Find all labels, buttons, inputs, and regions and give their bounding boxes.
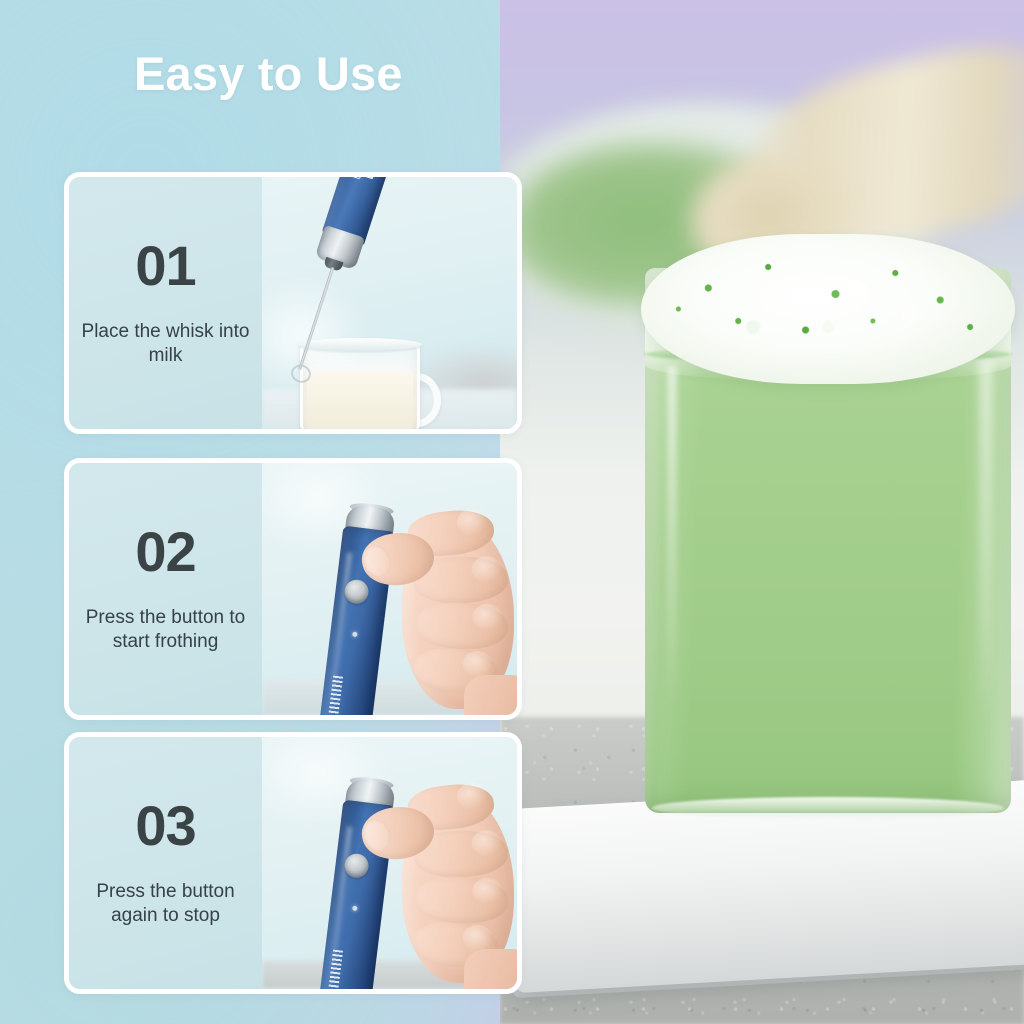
matcha-flecks <box>641 234 1014 384</box>
hand-holding-frother-02 <box>368 503 517 715</box>
milk-glass <box>300 343 420 429</box>
step-card-01-photo <box>262 177 517 429</box>
brand-logo-mark <box>351 177 364 179</box>
step-number-01: 01 <box>135 238 195 294</box>
mug-highlight-right <box>979 344 993 726</box>
page-title: Easy to Use <box>134 46 403 101</box>
finger-ring-02 <box>415 601 509 650</box>
brand-text-03 <box>328 950 344 989</box>
step-card-02[interactable]: 02 Press the button to start frothing <box>64 458 522 720</box>
step-card-03[interactable]: 03 Press the button again to stop <box>64 732 522 994</box>
mug-base-shine <box>652 797 1003 819</box>
milk-glass-rim <box>298 338 422 351</box>
knuckle-02a <box>456 507 489 536</box>
knuckle-02b <box>471 556 502 583</box>
step-card-01-text-panel: 01 Place the whisk into milk <box>69 177 262 429</box>
knuckle-03a <box>456 781 489 810</box>
knuckle-03c <box>472 877 503 904</box>
brand-logo-wordmark <box>363 177 373 179</box>
led-indicator-02 <box>352 632 358 638</box>
knuckle-02c <box>472 603 503 630</box>
step-number-02: 02 <box>135 524 195 580</box>
product-infographic: Easy to Use 01 Place the whisk into milk <box>0 0 1024 1024</box>
milk-liquid <box>307 371 413 429</box>
wrist-03 <box>464 949 517 989</box>
power-button-02[interactable] <box>343 578 370 605</box>
hand-holding-frother-03 <box>368 777 517 989</box>
mug-highlight-left <box>667 366 677 715</box>
step-card-03-text-panel: 03 Press the button again to stop <box>69 737 262 989</box>
power-button-03[interactable] <box>343 852 370 879</box>
step-card-02-text-panel: 02 Press the button to start frothing <box>69 463 262 715</box>
step-number-03: 03 <box>135 798 195 854</box>
hero-photo-matcha-latte <box>500 0 1024 1024</box>
finger-ring-03 <box>415 875 509 924</box>
milk-glass-body <box>300 343 420 429</box>
step-card-01[interactable]: 01 Place the whisk into milk <box>64 172 522 434</box>
brand-logo-icon <box>350 177 374 183</box>
step-label-02: Press the button to start frothing <box>75 606 256 654</box>
wrist-02 <box>464 675 517 715</box>
step-label-01: Place the whisk into milk <box>75 320 256 368</box>
brand-text-02 <box>328 676 344 715</box>
step-card-03-photo <box>262 737 517 989</box>
led-indicator-03 <box>352 906 358 912</box>
step-card-02-photo <box>262 463 517 715</box>
matcha-latte-mug <box>645 268 1011 813</box>
step-label-03: Press the button again to stop <box>75 880 256 928</box>
knuckle-03b <box>471 830 502 857</box>
